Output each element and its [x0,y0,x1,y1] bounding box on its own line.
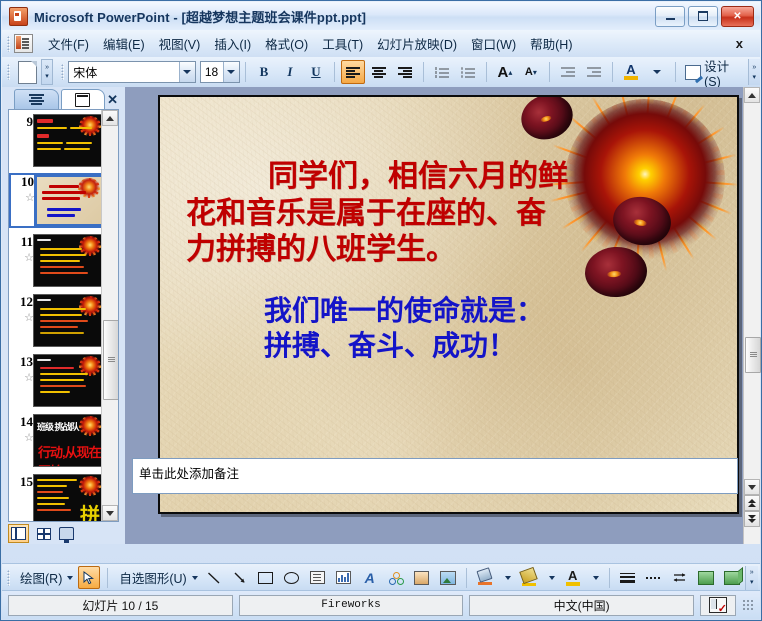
normal-view-button[interactable] [8,524,29,543]
design-button[interactable]: 设计(S) [681,54,748,91]
arrow-style-icon [672,572,687,584]
thumbnail-list: 9 [8,109,119,522]
thumbnail-scroll-container[interactable]: 9 [9,110,102,521]
font-name-combo[interactable]: 宋体 [68,61,196,83]
toolbar-separator [466,568,467,588]
arrow-style-button[interactable] [669,566,691,589]
autoshapes-menu-button[interactable]: 自选图形(U) [115,566,198,589]
standard-toolbar-overflow-button[interactable]: »▾ [41,59,53,85]
bold-icon: B [260,64,269,80]
toolbar-separator [334,62,335,82]
line-style-icon [620,572,635,583]
design-template-name: Fireworks [239,595,464,616]
new-document-icon [18,61,37,84]
blue-line-2: 拼搏、奋斗、成功！ [160,328,737,363]
menu-item-edit[interactable]: 编辑(E) [96,30,152,57]
slide-scrollbar[interactable] [743,87,760,544]
close-document-button[interactable]: x [731,34,748,53]
thumbnail-scroll-down-button[interactable] [102,505,118,521]
align-center-icon [372,67,386,78]
workspace: ✕ 9 [2,87,760,544]
slide-show-button[interactable] [56,524,77,543]
powerpoint-icon [9,7,28,26]
numbered-list-icon [435,67,449,78]
slide-sorter-view-button[interactable] [32,524,53,543]
blue-line-1: 我们唯一的使命就是： [160,293,737,328]
status-bar: 幻灯片 10 / 15 Fireworks 中文(中国) [2,590,760,619]
oval-tool-button[interactable] [281,566,303,589]
line-style-button[interactable] [617,566,639,589]
slide-counter: 幻灯片 10 / 15 [8,595,233,616]
powerpoint-window: Microsoft PowerPoint - [超越梦想主题班会课件ppt.pp… [0,0,762,621]
thumbnail-item-9[interactable]: 9 [9,114,102,167]
font-size-value: 18 [201,65,223,79]
font-name-value: 宋体 [69,64,179,81]
slide-preview [33,234,103,287]
align-center-button[interactable] [367,60,391,84]
text-box-icon [310,571,325,584]
draw-menu-label: 绘图(R) [17,568,65,587]
drawing-toolbar: 绘图(R) 自选图形(U) A [2,563,760,591]
font-name-dropdown-icon[interactable] [179,62,195,82]
spellcheck-status[interactable] [700,595,736,616]
thumbnail-item-14[interactable]: 14 ☆ 班级 挑战队 行动,从现在开始 [9,414,102,467]
pane-tab-strip: ✕ [2,87,125,109]
dash-style-button[interactable] [643,566,665,589]
document-menu-icon[interactable] [14,34,33,53]
line-color-icon [521,569,536,586]
slide-scroll-down-button[interactable] [744,479,760,495]
design-icon [685,65,701,80]
toolbar-separator [609,568,610,588]
decrease-indent-button[interactable] [556,60,580,84]
slide-sorter-icon [37,528,49,539]
wordart-button[interactable]: A [359,566,381,589]
numbered-list-button[interactable] [430,60,454,84]
shadow-style-icon [698,571,714,585]
drawing-font-color-icon: A [566,568,580,588]
view-buttons-group [8,523,77,543]
resize-grip[interactable] [742,599,754,611]
thumbnail-scroll-up-button[interactable] [102,110,118,126]
formatting-toolbar-overflow-button[interactable]: »▾ [748,59,760,85]
slide-show-icon [59,527,74,540]
drawing-toolbar-overflow-button[interactable]: »▾ [745,566,758,590]
slide-preview: 班级 挑战队 行动,从现在开始 [33,414,103,467]
menu-item-window[interactable]: 窗口(W) [464,30,523,57]
oval-icon [284,572,299,584]
insert-diagram-icon [389,572,402,584]
rectangle-icon [258,572,273,584]
decrease-font-size-button[interactable]: A▾ [519,60,543,84]
thumbnail-item-10[interactable]: 10 ☆ [10,174,102,227]
language-indicator[interactable]: 中文(中国) [469,595,694,616]
insert-clip-art-button[interactable] [411,566,433,589]
line-icon [207,571,221,585]
slide-preview [33,114,103,167]
insert-chart-button[interactable] [333,566,355,589]
draw-menu-button[interactable]: 绘图(R) [16,566,74,589]
bulleted-list-icon [461,67,475,78]
thumbnail-item-11[interactable]: 11 ☆ [9,234,102,287]
shadow-style-button[interactable] [695,566,717,589]
menu-item-view[interactable]: 视图(V) [152,30,208,57]
thumbnail-scroll-thumb[interactable] [103,320,119,400]
slide-scroll-thumb[interactable] [745,337,761,373]
increase-indent-icon [587,67,601,78]
insert-diagram-button[interactable] [385,566,407,589]
normal-view-icon [11,527,26,540]
close-pane-button[interactable]: ✕ [107,90,118,109]
thumbnail-item-15[interactable]: 15 拼 [9,474,102,522]
formatting-toolbar-grip[interactable] [61,64,64,80]
autoshapes-label: 自选图形(U) [116,568,189,587]
increase-indent-button[interactable] [582,60,606,84]
fill-color-button[interactable] [474,566,496,589]
slides-tab[interactable] [61,89,106,109]
toolbar-separator [107,568,108,588]
maximize-button[interactable] [688,6,718,27]
align-right-button[interactable] [393,60,417,84]
drawing-font-color-dropdown-button[interactable] [588,566,602,589]
font-color-icon: A [624,62,638,82]
outline-icon [29,94,44,105]
italic-button[interactable]: I [278,60,302,84]
font-size-dropdown-icon[interactable] [223,62,239,82]
insert-chart-icon [336,571,351,584]
thumbnail-item-12[interactable]: 12 ☆ [9,294,102,347]
design-label: 设计(S) [704,56,743,89]
title-bar: Microsoft PowerPoint - [超越梦想主题班会课件ppt.pp… [2,2,760,31]
underline-button[interactable]: U [304,60,328,84]
window-controls: ✕ [655,6,754,27]
menu-item-insert[interactable]: 插入(I) [207,30,258,57]
toolbar-separator [675,62,676,82]
slide-preview [33,354,103,407]
drawing-toolbar-grip[interactable] [7,570,10,586]
line-color-dropdown-button[interactable] [544,566,558,589]
menu-item-slideshow[interactable]: 幻灯片放映(D) [370,30,464,57]
menu-item-format[interactable]: 格式(O) [258,30,315,57]
font-color-dropdown-button[interactable] [645,60,669,84]
align-right-icon [398,67,412,78]
font-color-button[interactable]: A [619,60,643,84]
toolbar-separator [549,62,550,82]
menu-item-help[interactable]: 帮助(H) [523,30,579,57]
slide-scroll-up-button[interactable] [744,87,760,103]
select-arrow-icon [83,571,95,585]
insert-clip-art-icon [414,571,429,585]
font-size-combo[interactable]: 18 [200,61,240,83]
menu-item-tools[interactable]: 工具(T) [315,30,370,57]
rectangle-tool-button[interactable] [255,566,277,589]
arrow-tool-button[interactable] [229,566,251,589]
wordart-icon: A [365,571,375,585]
decrease-indent-icon [561,67,575,78]
toolbar-separator [486,62,487,82]
thumbnail-scrollbar[interactable] [101,110,118,521]
underline-icon: U [311,64,320,80]
new-document-button[interactable] [15,60,40,84]
slide-preview: 拼 [33,474,103,522]
red-line-3: 力拼搏的八班学生。 [160,232,737,269]
increase-font-size-button[interactable]: A▴ [493,60,517,84]
line-color-button[interactable] [518,566,540,589]
3d-style-icon [724,571,740,585]
close-button[interactable]: ✕ [721,6,754,27]
menu-item-file[interactable]: 文件(F) [41,30,96,57]
slides-icon [75,93,90,107]
spelling-check-icon [709,597,727,613]
next-slide-button[interactable] [744,511,760,527]
text-box-button[interactable] [307,566,329,589]
insert-picture-icon [440,571,456,585]
bulleted-list-button[interactable] [456,60,480,84]
slide-text-body[interactable]: 同学们，相信六月的鲜 花和音乐是属于在座的、奋 力拼搏的八班学生。 我们唯一的使… [160,97,737,363]
outline-tab[interactable] [14,89,59,109]
insert-picture-button[interactable] [437,566,459,589]
fill-color-icon [477,569,492,586]
increase-font-size-icon: A [497,64,508,81]
align-left-button[interactable] [341,60,365,84]
toolbar-separator [612,62,613,82]
menu-bar: 文件(F) 编辑(E) 视图(V) 插入(I) 格式(O) 工具(T) 幻灯片放… [2,30,760,58]
slide-canvas[interactable]: 同学们，相信六月的鲜 花和音乐是属于在座的、奋 力拼搏的八班学生。 我们唯一的使… [158,95,739,514]
align-left-icon [346,67,360,78]
notes-pane[interactable]: 单击此处添加备注 [132,458,738,494]
menu-grip-handle[interactable] [7,36,10,52]
previous-slide-button[interactable] [744,495,760,511]
decrease-font-size-icon: A [525,66,533,78]
3d-style-button[interactable] [721,566,743,589]
line-tool-button[interactable] [203,566,225,589]
bold-button[interactable]: B [252,60,276,84]
italic-icon: I [287,64,292,80]
slide-preview [33,294,103,347]
dash-style-icon [646,572,661,583]
window-title: Microsoft PowerPoint - [超越梦想主题班会课件ppt.pp… [34,7,366,26]
red-line-2: 花和音乐是属于在座的、奋 [160,196,737,233]
formatting-toolbar: »▾ 宋体 18 B I U [2,57,760,88]
thumbnail-item-13[interactable]: 13 ☆ [9,354,102,407]
arrow-icon [233,571,247,585]
toolbar-separator [423,62,424,82]
select-objects-button[interactable] [78,566,100,589]
red-line-1: 同学们，相信六月的鲜 [160,159,737,196]
minimize-button[interactable] [655,6,685,27]
standard-toolbar-grip[interactable] [7,64,10,80]
drawing-font-color-button[interactable]: A [562,566,584,589]
toolbar-separator [245,62,246,82]
slide-preview [34,174,104,227]
fill-color-dropdown-button[interactable] [500,566,514,589]
slide-thumbnail-pane: ✕ 9 [2,87,125,544]
